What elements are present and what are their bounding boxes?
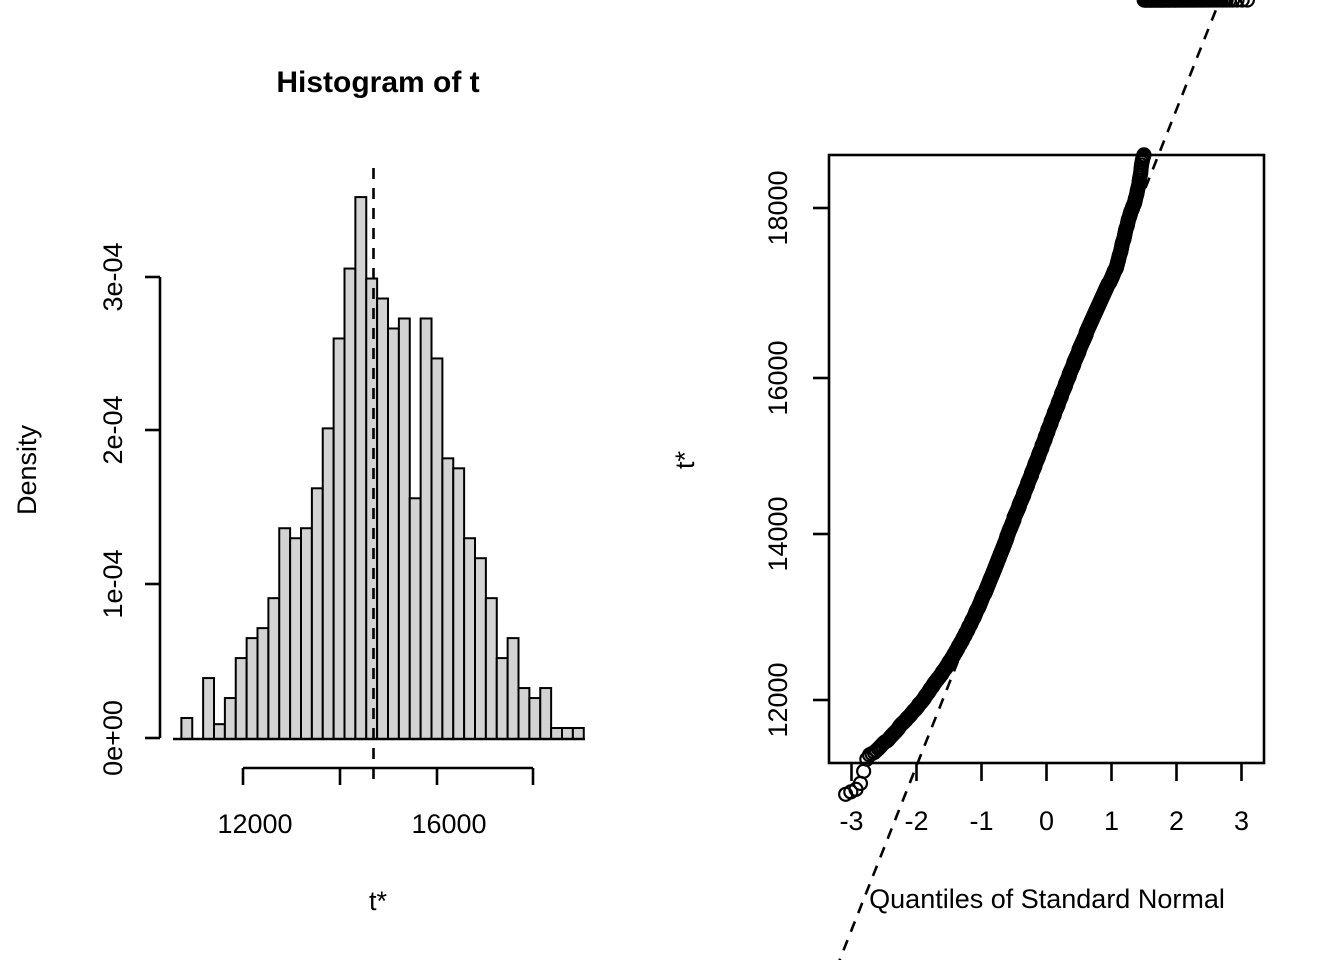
histogram-bar [225, 698, 236, 739]
qq-x-tick-label: -2 [904, 806, 928, 836]
histogram-bar [388, 328, 399, 739]
y-tick-label-1: 1e-04 [98, 549, 128, 618]
histogram-bar [551, 728, 562, 739]
histogram-bar [562, 728, 573, 739]
histogram-bar [203, 678, 214, 739]
qq-x-tick-label: -3 [839, 806, 863, 836]
qqplot-panel: 18000 16000 14000 12000 t* -3-2-10123 Qu… [672, 0, 1344, 960]
histogram-bar [355, 197, 366, 739]
qq-x-tick-label: 0 [1039, 806, 1054, 836]
histogram-bar [486, 598, 497, 739]
histogram-bar [236, 658, 247, 739]
x-tick-label-12000: 12000 [217, 809, 292, 839]
histogram-bar [301, 528, 312, 739]
histogram-y-axis: 3e-04 2e-04 1e-04 0e+00 Density [12, 242, 160, 775]
histogram-bar [377, 299, 388, 739]
histogram-bar [410, 498, 421, 739]
histogram-bar [345, 269, 356, 739]
histogram-x-axis: 12000 16000 t* [217, 768, 533, 916]
histogram-panel: Histogram of t 3e-04 2e-04 1e-04 0e+00 D… [0, 0, 672, 960]
y-tick-label-2: 2e-04 [98, 395, 128, 464]
histogram-bar [312, 488, 323, 739]
x-tick-label-16000: 16000 [411, 809, 486, 839]
histogram-bar [247, 638, 258, 739]
histogram-bar [323, 428, 334, 739]
qq-y-tick-label-16000: 16000 [763, 340, 793, 415]
histogram-bar [540, 688, 551, 739]
histogram-bars [181, 197, 583, 739]
histogram-bar [442, 458, 453, 739]
qqplot-x-axis-label: Quantiles of Standard Normal [869, 884, 1225, 914]
histogram-bar [421, 318, 432, 739]
qq-point [857, 765, 870, 778]
histogram-bar [366, 279, 377, 739]
qq-x-tick-label: 1 [1104, 806, 1119, 836]
histogram-bar [464, 538, 475, 739]
qqplot-svg: 18000 16000 14000 12000 t* -3-2-10123 Qu… [672, 0, 1344, 960]
qqplot-x-axis: -3-2-10123 [839, 763, 1249, 836]
qq-x-tick-label: -1 [969, 806, 993, 836]
histogram-bar [290, 538, 301, 739]
histogram-bar [214, 724, 225, 739]
qqplot-y-axis: 18000 16000 14000 12000 t* [672, 170, 829, 737]
qq-y-tick-label-14000: 14000 [763, 496, 793, 571]
histogram-bar [399, 318, 410, 739]
qq-x-tick-label: 2 [1169, 806, 1184, 836]
histogram-svg: Histogram of t 3e-04 2e-04 1e-04 0e+00 D… [0, 0, 672, 960]
histogram-bar [432, 358, 443, 739]
histogram-bar [508, 638, 519, 739]
histogram-bar [529, 698, 540, 739]
histogram-bar [334, 338, 345, 739]
qqplot-box [829, 155, 1264, 763]
r-plot-canvas: Histogram of t 3e-04 2e-04 1e-04 0e+00 D… [0, 0, 1344, 960]
qq-y-tick-label-18000: 18000 [763, 170, 793, 245]
histogram-bar [497, 658, 508, 739]
histogram-bar [181, 718, 192, 739]
histogram-bar [519, 688, 530, 739]
histogram-bar [573, 728, 584, 739]
histogram-bar [453, 468, 464, 739]
y-tick-label-3: 3e-04 [98, 242, 128, 311]
histogram-bar [475, 558, 486, 739]
qqplot-y-axis-label: t* [672, 451, 700, 470]
histogram-y-axis-label: Density [12, 424, 42, 515]
histogram-bar [279, 528, 290, 739]
histogram-bar [268, 598, 279, 739]
qq-x-tick-label: 3 [1234, 806, 1249, 836]
histogram-title: Histogram of t [276, 66, 479, 99]
histogram-bar [258, 628, 269, 739]
histogram-x-axis-label: t* [369, 886, 388, 916]
y-tick-label-0: 0e+00 [98, 700, 128, 776]
qqplot-points [839, 0, 1254, 801]
qq-y-tick-label-12000: 12000 [763, 662, 793, 737]
